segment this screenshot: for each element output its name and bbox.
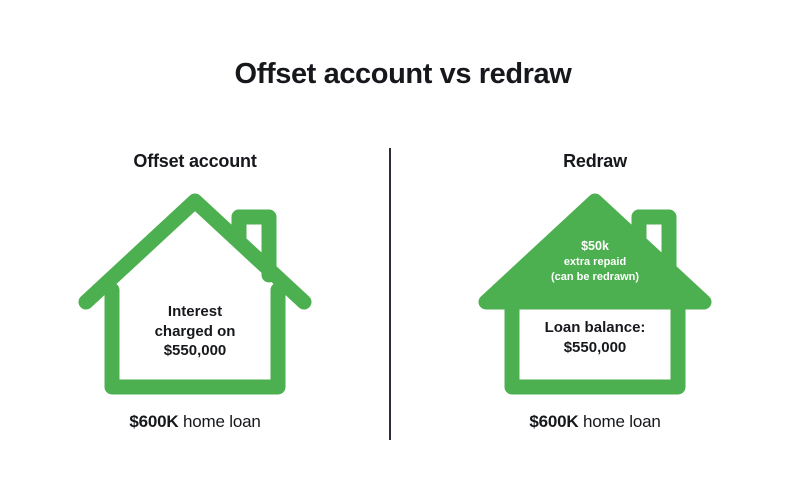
caption-redraw: $600K home loan (400, 412, 790, 432)
house-illustration-offset: Interest charged on $550,000 (70, 190, 320, 405)
caption-rest: home loan (578, 412, 660, 431)
caption-amount: $600K (529, 412, 578, 431)
caption-amount: $600K (129, 412, 178, 431)
page-title: Offset account vs redraw (0, 58, 806, 91)
caption-rest: home loan (178, 412, 260, 431)
house-illustration-redraw: $50k extra repaid (can be redrawn) Loan … (470, 190, 720, 405)
infographic-canvas: Offset account vs redraw Offset account … (0, 0, 806, 500)
caption-offset-account: $600K home loan (0, 412, 390, 432)
panel-redraw: Redraw $50k extra repaid (can be redrawn… (400, 140, 790, 450)
panel-heading-redraw: Redraw (400, 151, 790, 172)
panel-heading-offset-account: Offset account (0, 151, 390, 172)
house-outline-icon (70, 190, 320, 405)
house-filled-roof-icon (470, 190, 720, 405)
panel-offset-account: Offset account Interest charged on $550,… (0, 140, 390, 450)
